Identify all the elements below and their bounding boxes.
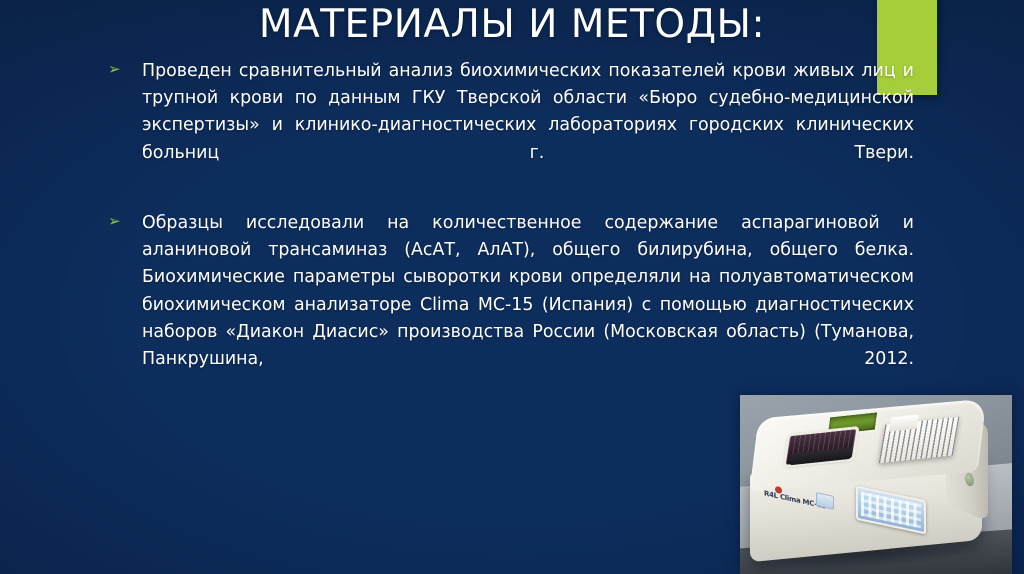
bullet-arrow-icon: ➢ [108, 210, 142, 229]
bullet-item: ➢ Образцы исследовали на количественное … [108, 210, 914, 400]
slide-title: МАТЕРИАЛЫ И МЕТОДЫ: [0, 2, 1024, 47]
bullet-text: Образцы исследовали на количественное со… [142, 210, 914, 400]
bullet-text: Проведен сравнительный анализ биохимичес… [142, 58, 914, 194]
bullet-arrow-icon: ➢ [108, 58, 142, 77]
slide-body: ➢ Проведен сравнительный анализ биохимич… [108, 58, 914, 416]
bullet-item: ➢ Проведен сравнительный анализ биохимич… [108, 58, 914, 194]
presentation-slide: МАТЕРИАЛЫ И МЕТОДЫ: ➢ Проведен сравнител… [0, 0, 1024, 574]
analyzer-photo: R4L Clima MC-15 [740, 395, 1012, 574]
